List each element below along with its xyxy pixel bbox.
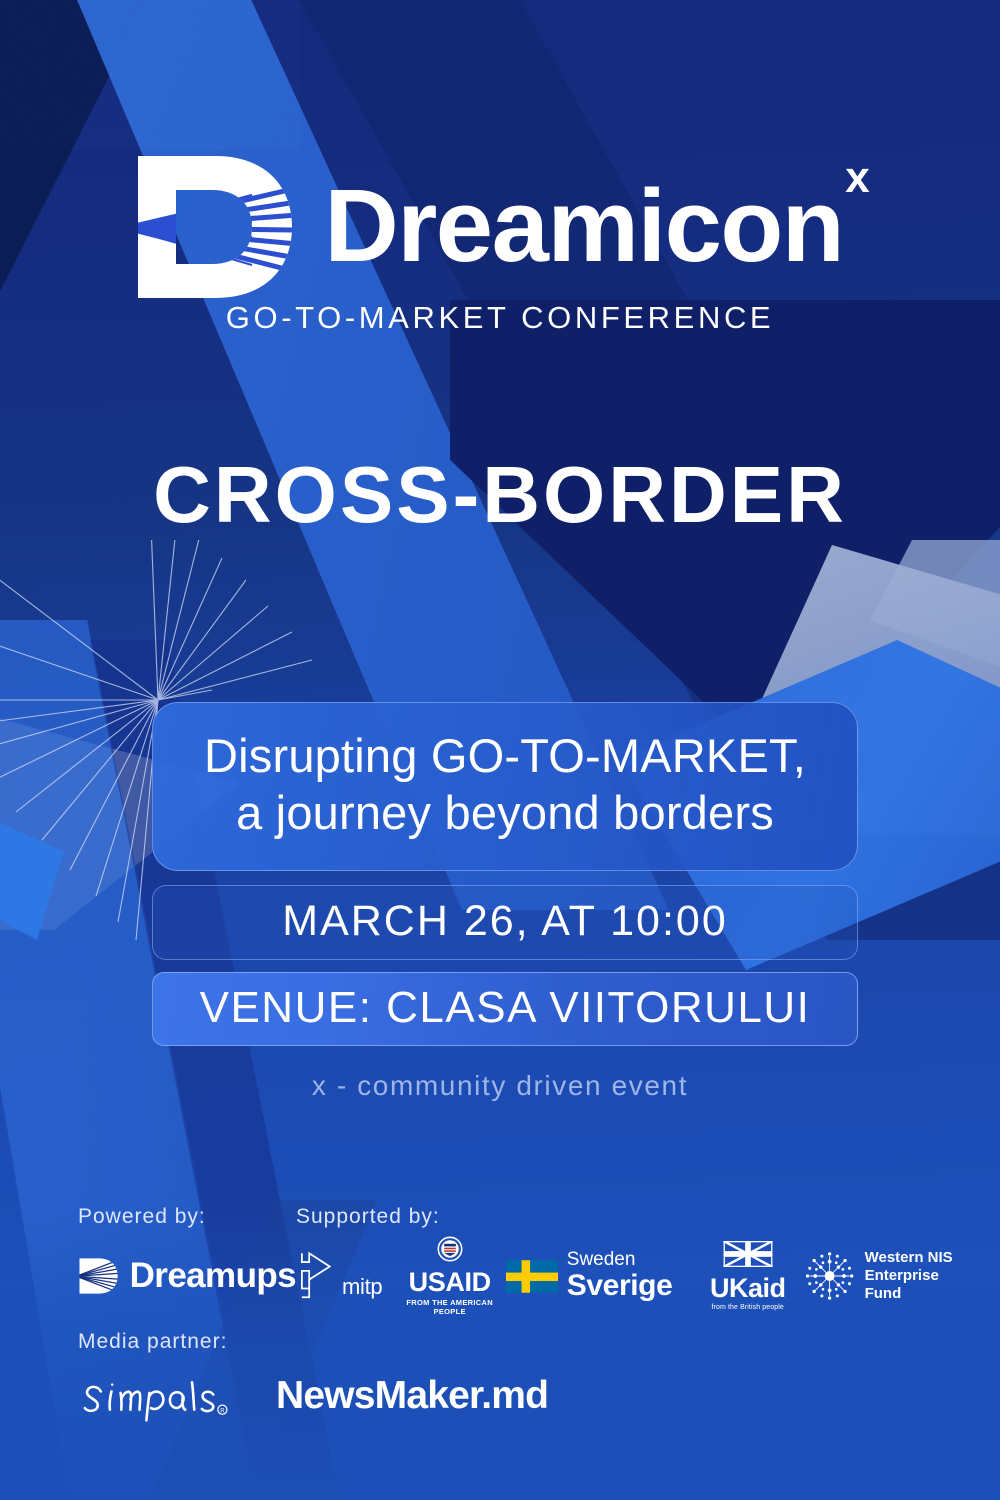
community-note: x - community driven event — [0, 1070, 1000, 1102]
simpals-script-logo-icon: R — [78, 1370, 230, 1422]
mitp-wordmark: mitp — [342, 1274, 382, 1300]
wnis-starburst-icon — [802, 1248, 857, 1304]
supported-by-label: Supported by: — [296, 1205, 440, 1229]
sponsor-dreamups[interactable]: Dreamups — [78, 1253, 296, 1299]
sponsor-mitp[interactable]: mitp — [296, 1250, 394, 1302]
tagline-line-1: Disrupting GO-TO-MARKET, — [183, 727, 827, 784]
media-partner-section: Media partner: — [78, 1330, 838, 1424]
mitp-arrow-logo-icon — [296, 1250, 340, 1302]
brand-lockup: Dreamiconx — [0, 152, 1000, 302]
brand-name: Dreamicon — [324, 168, 843, 283]
powered-by-label: Powered by: — [78, 1205, 296, 1229]
media-partner-label: Media partner: — [78, 1330, 838, 1354]
brand-wordmark: Dreamiconx — [324, 174, 867, 277]
union-jack-flag-icon — [723, 1241, 773, 1267]
media-partner-simpals[interactable]: R — [78, 1370, 276, 1422]
info-cards: Disrupting GO-TO-MARKET, a journey beyon… — [152, 702, 858, 1046]
tagline-line-2: a journey beyond borders — [183, 784, 827, 841]
sponsor-labels-row: Powered by: Supported by: — [78, 1205, 978, 1235]
svg-text:R: R — [220, 1407, 225, 1414]
ukaid-wordmark: UKaid — [710, 1275, 786, 1302]
event-poster: Dreamiconx GO-TO-MARKET CONFERENCE CROSS… — [0, 0, 1000, 1500]
sweden-flag-icon — [506, 1260, 558, 1293]
usaid-wordmark: USAID — [394, 1269, 506, 1296]
tagline-card: Disrupting GO-TO-MARKET, a journey beyon… — [152, 702, 858, 871]
usaid-tagline: FROM THE AMERICAN PEOPLE — [394, 1298, 506, 1316]
sweden-label-en: Sweden — [567, 1250, 673, 1270]
brand-superscript: x — [845, 153, 869, 202]
sponsor-ukaid[interactable]: UKaid from the British people — [693, 1241, 802, 1311]
media-partner-row: R NewsMaker.md — [78, 1368, 838, 1424]
wnis-line-2: Enterprise Fund — [865, 1267, 978, 1304]
usaid-seal-icon — [437, 1236, 463, 1262]
brand-subtitle: GO-TO-MARKET CONFERENCE — [0, 300, 1000, 336]
wnis-line-1: Western NIS — [865, 1249, 978, 1267]
sponsors-section: Powered by: Supported by: — [78, 1205, 978, 1305]
sponsor-sweden[interactable]: Sweden Sverige — [506, 1250, 693, 1301]
date-card: MARCH 26, AT 10:00 — [152, 885, 858, 960]
dreamicon-d-burst-logo-icon — [132, 152, 300, 302]
media-partner-newsmaker[interactable]: NewsMaker.md — [276, 1374, 548, 1418]
sweden-label-sv: Sverige — [567, 1270, 673, 1302]
sponsor-western-nis[interactable]: Western NIS Enterprise Fund — [802, 1248, 978, 1304]
dreamups-d-burst-logo-icon — [78, 1253, 120, 1299]
sponsor-logos-row: Dreamups mitp — [78, 1247, 978, 1305]
ukaid-tagline: from the British people — [710, 1304, 786, 1311]
page-title: CROSS-BORDER — [0, 455, 1000, 535]
dreamups-wordmark: Dreamups — [130, 1256, 296, 1296]
venue-card: VENUE: CLASA VIITORULUI — [152, 972, 858, 1046]
sponsor-usaid[interactable]: USAID FROM THE AMERICAN PEOPLE — [394, 1236, 506, 1316]
